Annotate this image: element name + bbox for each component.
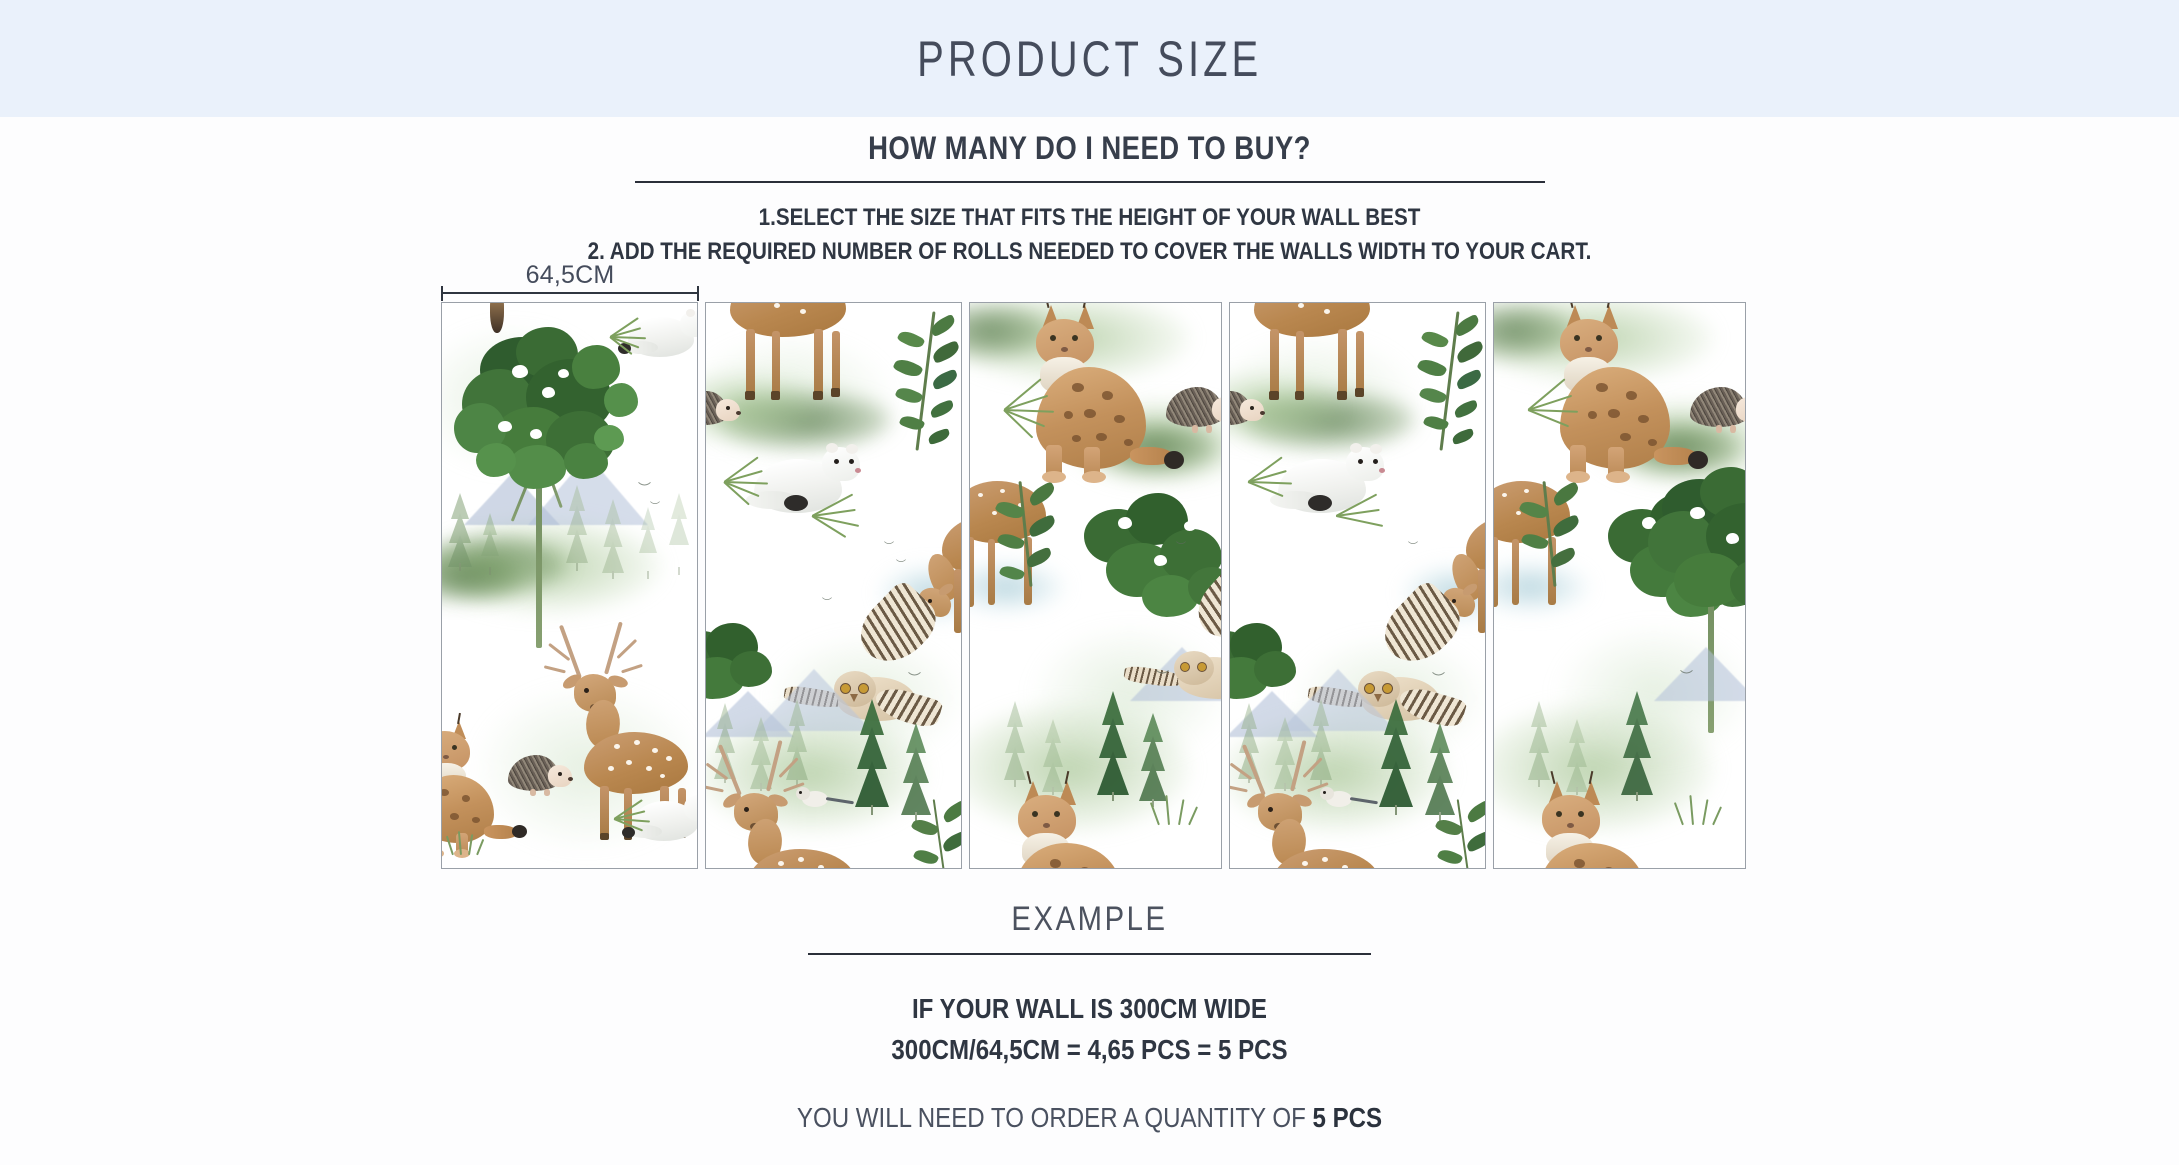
- pine-needle-spray: [812, 495, 864, 535]
- botanical-sprig: [1436, 799, 1485, 868]
- grass-tuft: [1680, 795, 1728, 825]
- lynx-animal: [1530, 781, 1660, 868]
- wallpaper-artwork: ︶: [1494, 303, 1745, 868]
- wallpaper-artwork: ︶ ︶ ︶ ︶: [706, 303, 961, 868]
- botanical-sprig: [894, 311, 961, 461]
- pine-tree: [602, 499, 624, 579]
- deer-animal: [706, 755, 870, 868]
- instruction-step-1: 1.SELECT THE SIZE THAT FITS THE HEIGHT O…: [153, 201, 2027, 235]
- wallpaper-panel-2[interactable]: ︶ ︶ ︶ ︶: [705, 302, 962, 869]
- songbird: [794, 787, 852, 811]
- flying-bird-silhouette: ︶: [1408, 543, 1418, 553]
- hedgehog-animal: [1690, 383, 1745, 435]
- wallpaper-panel-4[interactable]: ︶ ︶: [1229, 302, 1486, 869]
- botanical-sprig: [996, 481, 1058, 591]
- mountain-shape: [1654, 647, 1745, 701]
- grass-tuft: [1156, 795, 1204, 825]
- hedgehog-animal: [1166, 383, 1221, 435]
- hedgehog-animal: [1230, 387, 1266, 431]
- flying-bird-silhouette: ︶: [908, 673, 921, 686]
- page-header: PRODUCT SIZE: [0, 0, 2179, 117]
- botanical-sprig: [912, 799, 961, 868]
- pine-tree: [638, 507, 658, 579]
- example-line-2: 300CM/64,5CM = 4,65 PCS = 5 PCS: [153, 1030, 2027, 1071]
- example-conclusion-quantity: 5 PCS: [1312, 1102, 1382, 1133]
- wallpaper-artwork: ︶ ︶: [1230, 303, 1485, 868]
- wallpaper-artwork: ︶ ︶: [970, 303, 1221, 868]
- wallpaper-panel-1[interactable]: ︶ ︶: [441, 302, 698, 869]
- roll-width-dimension: 64,5CM: [441, 265, 699, 301]
- pine-tree: [668, 493, 690, 575]
- pine-needle-spray: [1336, 495, 1388, 535]
- hedgehog-animal: [706, 387, 742, 431]
- pine-needle-spray: [724, 461, 772, 501]
- example-conclusion: YOU WILL NEED TO ORDER A QUANTITY OF 5 P…: [153, 1102, 2027, 1134]
- botanical-sprig: [1520, 481, 1582, 591]
- grass-tuft: [450, 831, 490, 855]
- deer-animal: [1230, 755, 1394, 868]
- pine-tree: [1528, 701, 1550, 787]
- wallpaper-panel-row: ︶ ︶: [441, 302, 1746, 869]
- botanical-sprig: [1418, 311, 1485, 461]
- dimension-label: 64,5CM: [441, 261, 699, 290]
- instruction-step-2: 2. ADD THE REQUIRED NUMBER OF ROLLS NEED…: [153, 235, 2027, 269]
- dimension-line: [441, 292, 699, 294]
- flying-bird-silhouette: ︶: [822, 599, 832, 609]
- instructions-section: HOW MANY DO I NEED TO BUY? 1.SELECT THE …: [0, 130, 2179, 269]
- flying-bird-silhouette: ︶: [884, 543, 894, 553]
- dimension-tick-right: [697, 286, 699, 301]
- flying-bird-silhouette: ︶: [1680, 671, 1693, 684]
- tree-canopy: [706, 623, 782, 703]
- wallpaper-artwork: ︶ ︶: [442, 303, 697, 868]
- page-title: PRODUCT SIZE: [917, 30, 1262, 88]
- flying-bird-silhouette: ︶: [1156, 671, 1169, 684]
- pine-needle-spray: [1248, 461, 1296, 501]
- wallpaper-panel-3[interactable]: ︶ ︶: [969, 302, 1222, 869]
- tree-canopy: [1230, 623, 1306, 703]
- wallpaper-panel-5[interactable]: ︶: [1493, 302, 1746, 869]
- instructions-heading: HOW MANY DO I NEED TO BUY?: [153, 130, 2027, 167]
- example-section: EXAMPLE IF YOUR WALL IS 300CM WIDE 300CM…: [0, 900, 2179, 1134]
- flying-bird-silhouette: ︶: [638, 483, 651, 496]
- pine-needle-spray: [610, 319, 650, 353]
- heading-divider: [635, 181, 1545, 183]
- example-heading: EXAMPLE: [153, 900, 2027, 939]
- flying-bird-silhouette: ︶: [896, 561, 906, 571]
- tree-canopy: [454, 325, 634, 495]
- pine-needle-spray: [1528, 387, 1582, 431]
- pine-needle-spray: [614, 801, 654, 835]
- flying-bird-silhouette: ︶: [1176, 543, 1186, 553]
- instruction-steps: 1.SELECT THE SIZE THAT FITS THE HEIGHT O…: [0, 201, 2179, 269]
- pine-needle-spray: [1004, 387, 1058, 431]
- dimension-tick-left: [441, 286, 443, 301]
- lynx-animal: [1006, 781, 1136, 868]
- pine-tree: [1004, 701, 1026, 787]
- pine-tree: [448, 493, 472, 571]
- pine-tree: [566, 485, 588, 571]
- songbird: [1318, 787, 1376, 811]
- example-divider: [808, 953, 1371, 955]
- pine-tree: [1140, 713, 1166, 807]
- example-line-1: IF YOUR WALL IS 300CM WIDE: [153, 989, 2027, 1030]
- pine-tree: [480, 513, 500, 575]
- flying-bird-silhouette: ︶: [650, 503, 660, 513]
- flying-bird-silhouette: ︶: [1432, 673, 1445, 686]
- tree-canopy: [1644, 463, 1745, 613]
- example-conclusion-prefix: YOU WILL NEED TO ORDER A QUANTITY OF: [797, 1102, 1313, 1133]
- example-calculation: IF YOUR WALL IS 300CM WIDE 300CM/64,5CM …: [0, 989, 2179, 1070]
